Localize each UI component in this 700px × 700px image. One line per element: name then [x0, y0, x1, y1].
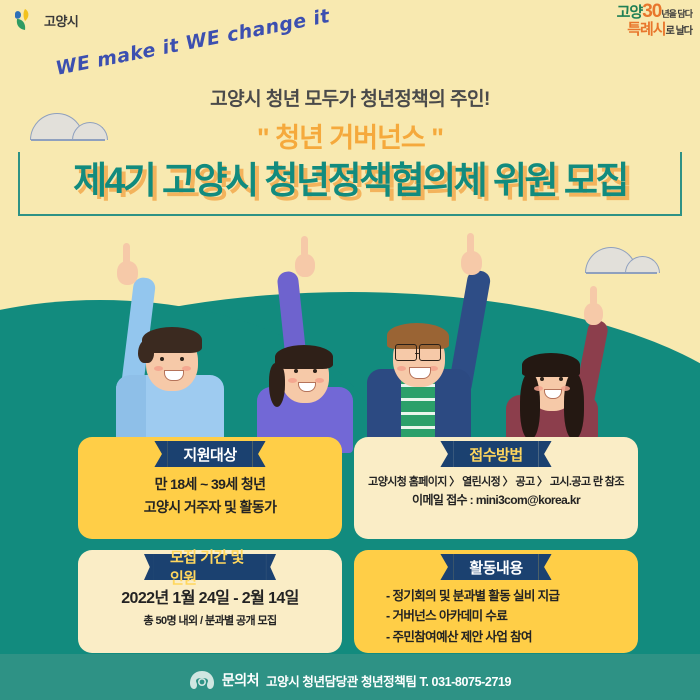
card-line: - 정기회의 및 분과별 활동 실비 지급 — [386, 586, 628, 606]
ribbon-label: 모집 기간 및 인원 — [170, 546, 250, 588]
ribbon-application-method: 접수방법 — [440, 441, 551, 467]
poster-root: 고양시 고양30년을 담다 특례시로 날다 WE make it WE chan… — [0, 0, 700, 700]
subtitle: 고양시 청년 모두가 청년정책의 주인! — [0, 84, 700, 111]
card-application-method: 접수방법 고양시청 홈페이지 〉 열린시정 〉 공고 〉 고시.공고 란 참조 … — [354, 437, 638, 539]
card-eligibility-body: 만 18세 ~ 39세 청년 고양시 거주자 및 활동가 — [88, 473, 332, 519]
people-illustration — [0, 243, 700, 453]
city-logo-label: 고양시 — [44, 11, 78, 30]
footer-label: 문의처 — [222, 670, 259, 690]
glasses-icon — [395, 344, 417, 361]
card-line: 만 18세 ~ 39세 청년 — [88, 473, 332, 496]
card-line: 2022년 1월 24일 - 2월 14일 — [88, 586, 332, 612]
card-row-2: 모집 기간 및 인원 2022년 1월 24일 - 2월 14일 총 50명 내… — [78, 550, 638, 653]
ribbon-activities: 활동내용 — [440, 554, 551, 580]
person-1 — [108, 248, 258, 453]
ribbon-label: 지원대상 — [183, 444, 236, 465]
card-eligibility: 지원대상 만 18세 ~ 39세 청년 고양시 거주자 및 활동가 — [78, 437, 342, 539]
gy-leaf-mark-icon — [12, 8, 38, 32]
ribbon-period-quota: 모집 기간 및 인원 — [144, 554, 276, 580]
ribbon-label: 접수방법 — [469, 444, 522, 465]
card-line: - 거버넌스 아카데미 수료 — [386, 606, 628, 626]
card-row-1: 지원대상 만 18세 ~ 39세 청년 고양시 거주자 및 활동가 접수방법 고… — [78, 437, 638, 539]
page-title: 제4기 고양시 청년정책협의체 위원 모집 — [0, 150, 700, 204]
footer-text: 고양시 청년담당관 청년정책팀 T. 031-8075-2719 — [266, 671, 511, 690]
footer-contact: 문의처 고양시 청년담당관 청년정책팀 T. 031-8075-2719 — [0, 669, 700, 691]
card-line: - 주민참여예산 제안 사업 참여 — [386, 627, 628, 647]
campaign-logo: 고양30년을 담다 특례시로 날다 — [617, 2, 692, 38]
person-4 — [492, 273, 642, 453]
english-slogan: WE make it WE change it — [54, 5, 332, 80]
card-line: 총 50명 내외 / 분과별 공개 모집 — [88, 612, 332, 630]
card-application-body: 고양시청 홈페이지 〉 열린시정 〉 공고 〉 고시.공고 란 참조 이메일 접… — [364, 473, 628, 511]
card-line: 고양시 거주자 및 활동가 — [88, 496, 332, 519]
ribbon-label: 활동내용 — [469, 557, 522, 578]
card-period-quota: 모집 기간 및 인원 2022년 1월 24일 - 2월 14일 총 50명 내… — [78, 550, 342, 653]
card-period-body: 2022년 1월 24일 - 2월 14일 총 50명 내외 / 분과별 공개 … — [88, 586, 332, 631]
campaign-logo-line1-suffix: 년을 담다 — [661, 9, 692, 19]
campaign-logo-line2-strong: 특례시 — [627, 21, 665, 38]
card-email-line[interactable]: 이메일 접수 : mini3com@korea.kr — [364, 491, 628, 511]
ribbon-eligibility: 지원대상 — [154, 441, 265, 467]
city-logo: 고양시 — [12, 8, 78, 32]
card-line: 고양시청 홈페이지 〉 열린시정 〉 공고 〉 고시.공고 란 참조 — [364, 473, 628, 491]
info-cards: 지원대상 만 18세 ~ 39세 청년 고양시 거주자 및 활동가 접수방법 고… — [78, 437, 638, 664]
card-activities: 활동내용 - 정기회의 및 분과별 활동 실비 지급 - 거버넌스 아카데미 수… — [354, 550, 638, 653]
campaign-logo-line2-rest: 로 날다 — [666, 26, 692, 37]
card-activities-body: - 정기회의 및 분과별 활동 실비 지급 - 거버넌스 아카데미 수료 - 주… — [364, 586, 628, 647]
campaign-logo-line1-prefix: 고양 — [617, 4, 643, 21]
campaign-logo-number: 30 — [642, 1, 661, 22]
telephone-icon — [189, 669, 215, 691]
